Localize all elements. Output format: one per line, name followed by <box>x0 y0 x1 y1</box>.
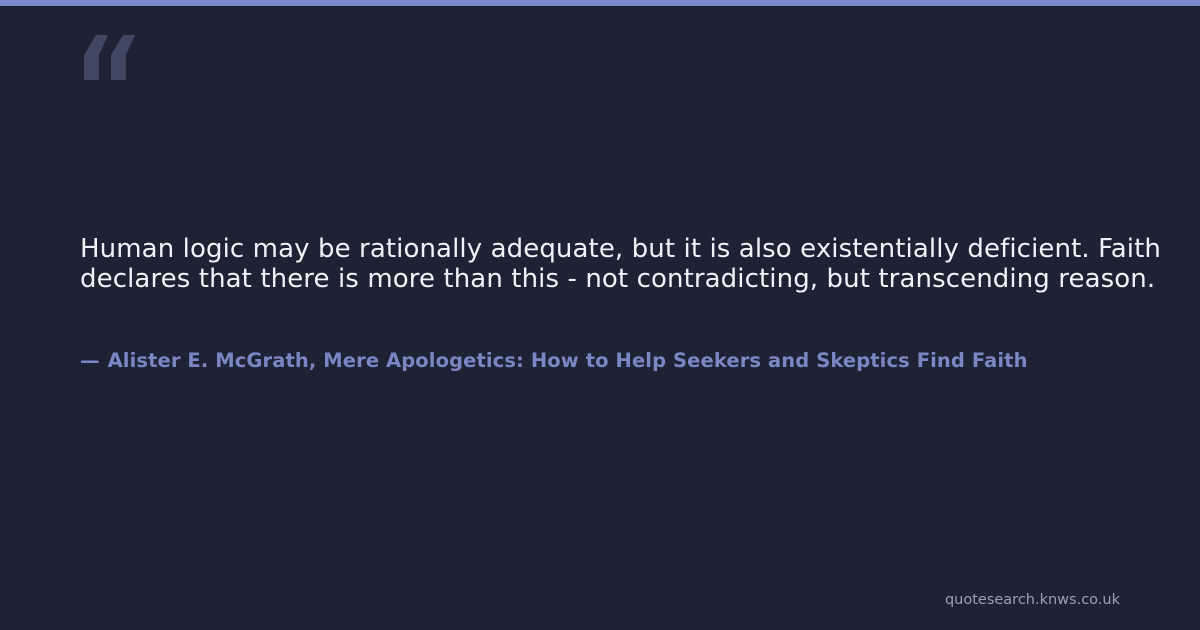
quote-text: Human logic may be rationally adequate, … <box>80 234 1200 294</box>
double-quote-open-icon <box>80 33 142 83</box>
quote-attribution: —Alister E. McGrath, Mere Apologetics: H… <box>80 348 1028 374</box>
top-accent-bar <box>0 0 1200 6</box>
attribution-source: Alister E. McGrath, Mere Apologetics: Ho… <box>108 349 1028 372</box>
attribution-dash: — <box>80 349 100 372</box>
source-url: quotesearch.knws.co.uk <box>945 591 1120 609</box>
quote-card: Human logic may be rationally adequate, … <box>0 0 1200 630</box>
